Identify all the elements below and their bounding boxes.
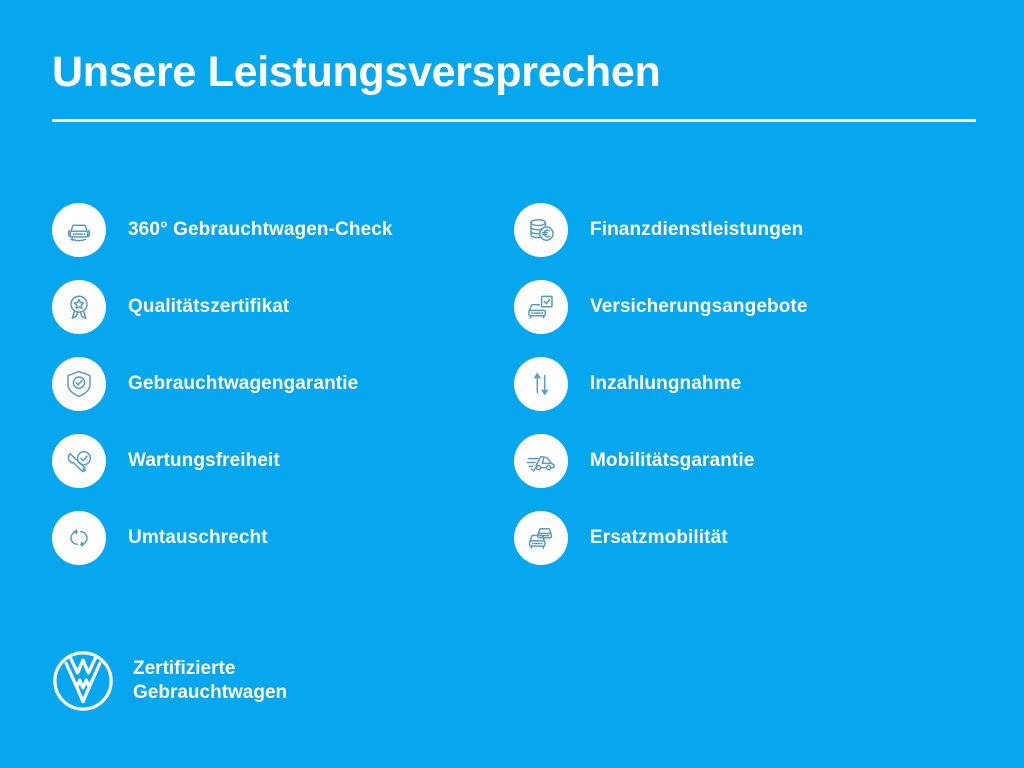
exchange-arrows-icon (52, 511, 106, 565)
volkswagen-logo-icon (52, 650, 114, 712)
list-item[interactable]: Qualitätszertifikat (52, 280, 514, 334)
wrench-check-icon (52, 434, 106, 488)
list-item-label: Inzahlungnahme (590, 373, 741, 395)
car-document-check-icon (514, 280, 568, 334)
title-divider (52, 119, 976, 122)
brand-text: Zertifizierte Gebrauchtwagen (133, 657, 287, 704)
list-item-label: Versicherungsangebote (590, 296, 808, 318)
list-item-label: Mobilitätsgarantie (590, 450, 754, 472)
header: Unsere Leistungsversprechen (52, 48, 976, 122)
brand-line-1: Zertifizierte (133, 657, 287, 681)
up-down-arrows-icon (514, 357, 568, 411)
two-cars-icon (514, 511, 568, 565)
list-item[interactable]: Ersatzmobilität (514, 511, 976, 565)
shield-check-icon (52, 357, 106, 411)
coins-euro-icon (514, 203, 568, 257)
list-item-label: Qualitätszertifikat (128, 296, 289, 318)
feature-grid: 360° Gebrauchtwagen-Check Qualitätszerti… (52, 203, 976, 565)
award-rosette-icon (52, 280, 106, 334)
list-item[interactable]: 360° Gebrauchtwagen-Check (52, 203, 514, 257)
car-speed-check-icon (514, 434, 568, 488)
list-item[interactable]: Wartungsfreiheit (52, 434, 514, 488)
page-title: Unsere Leistungsversprechen (52, 48, 976, 96)
list-item[interactable]: Umtauschrecht (52, 511, 514, 565)
brand-lockup: Zertifizierte Gebrauchtwagen (52, 650, 287, 712)
list-item-label: Gebrauchtwagengarantie (128, 373, 358, 395)
list-item-label: Ersatzmobilität (590, 527, 728, 549)
list-item[interactable]: Versicherungsangebote (514, 280, 976, 334)
list-item[interactable]: Mobilitätsgarantie (514, 434, 976, 488)
list-item-label: Umtauschrecht (128, 527, 268, 549)
list-item[interactable]: Gebrauchtwagengarantie (52, 357, 514, 411)
slide-root: Unsere Leistungsversprechen (0, 0, 1024, 768)
list-item-label: 360° Gebrauchtwagen-Check (128, 219, 393, 241)
list-item[interactable]: Inzahlungnahme (514, 357, 976, 411)
feature-column-left: 360° Gebrauchtwagen-Check Qualitätszerti… (52, 203, 514, 565)
list-item-label: Wartungsfreiheit (128, 450, 280, 472)
car-360-check-icon (52, 203, 106, 257)
list-item[interactable]: Finanzdienstleistungen (514, 203, 976, 257)
brand-line-2: Gebrauchtwagen (133, 681, 287, 705)
list-item-label: Finanzdienstleistungen (590, 219, 803, 241)
feature-column-right: Finanzdienstleistungen (514, 203, 976, 565)
